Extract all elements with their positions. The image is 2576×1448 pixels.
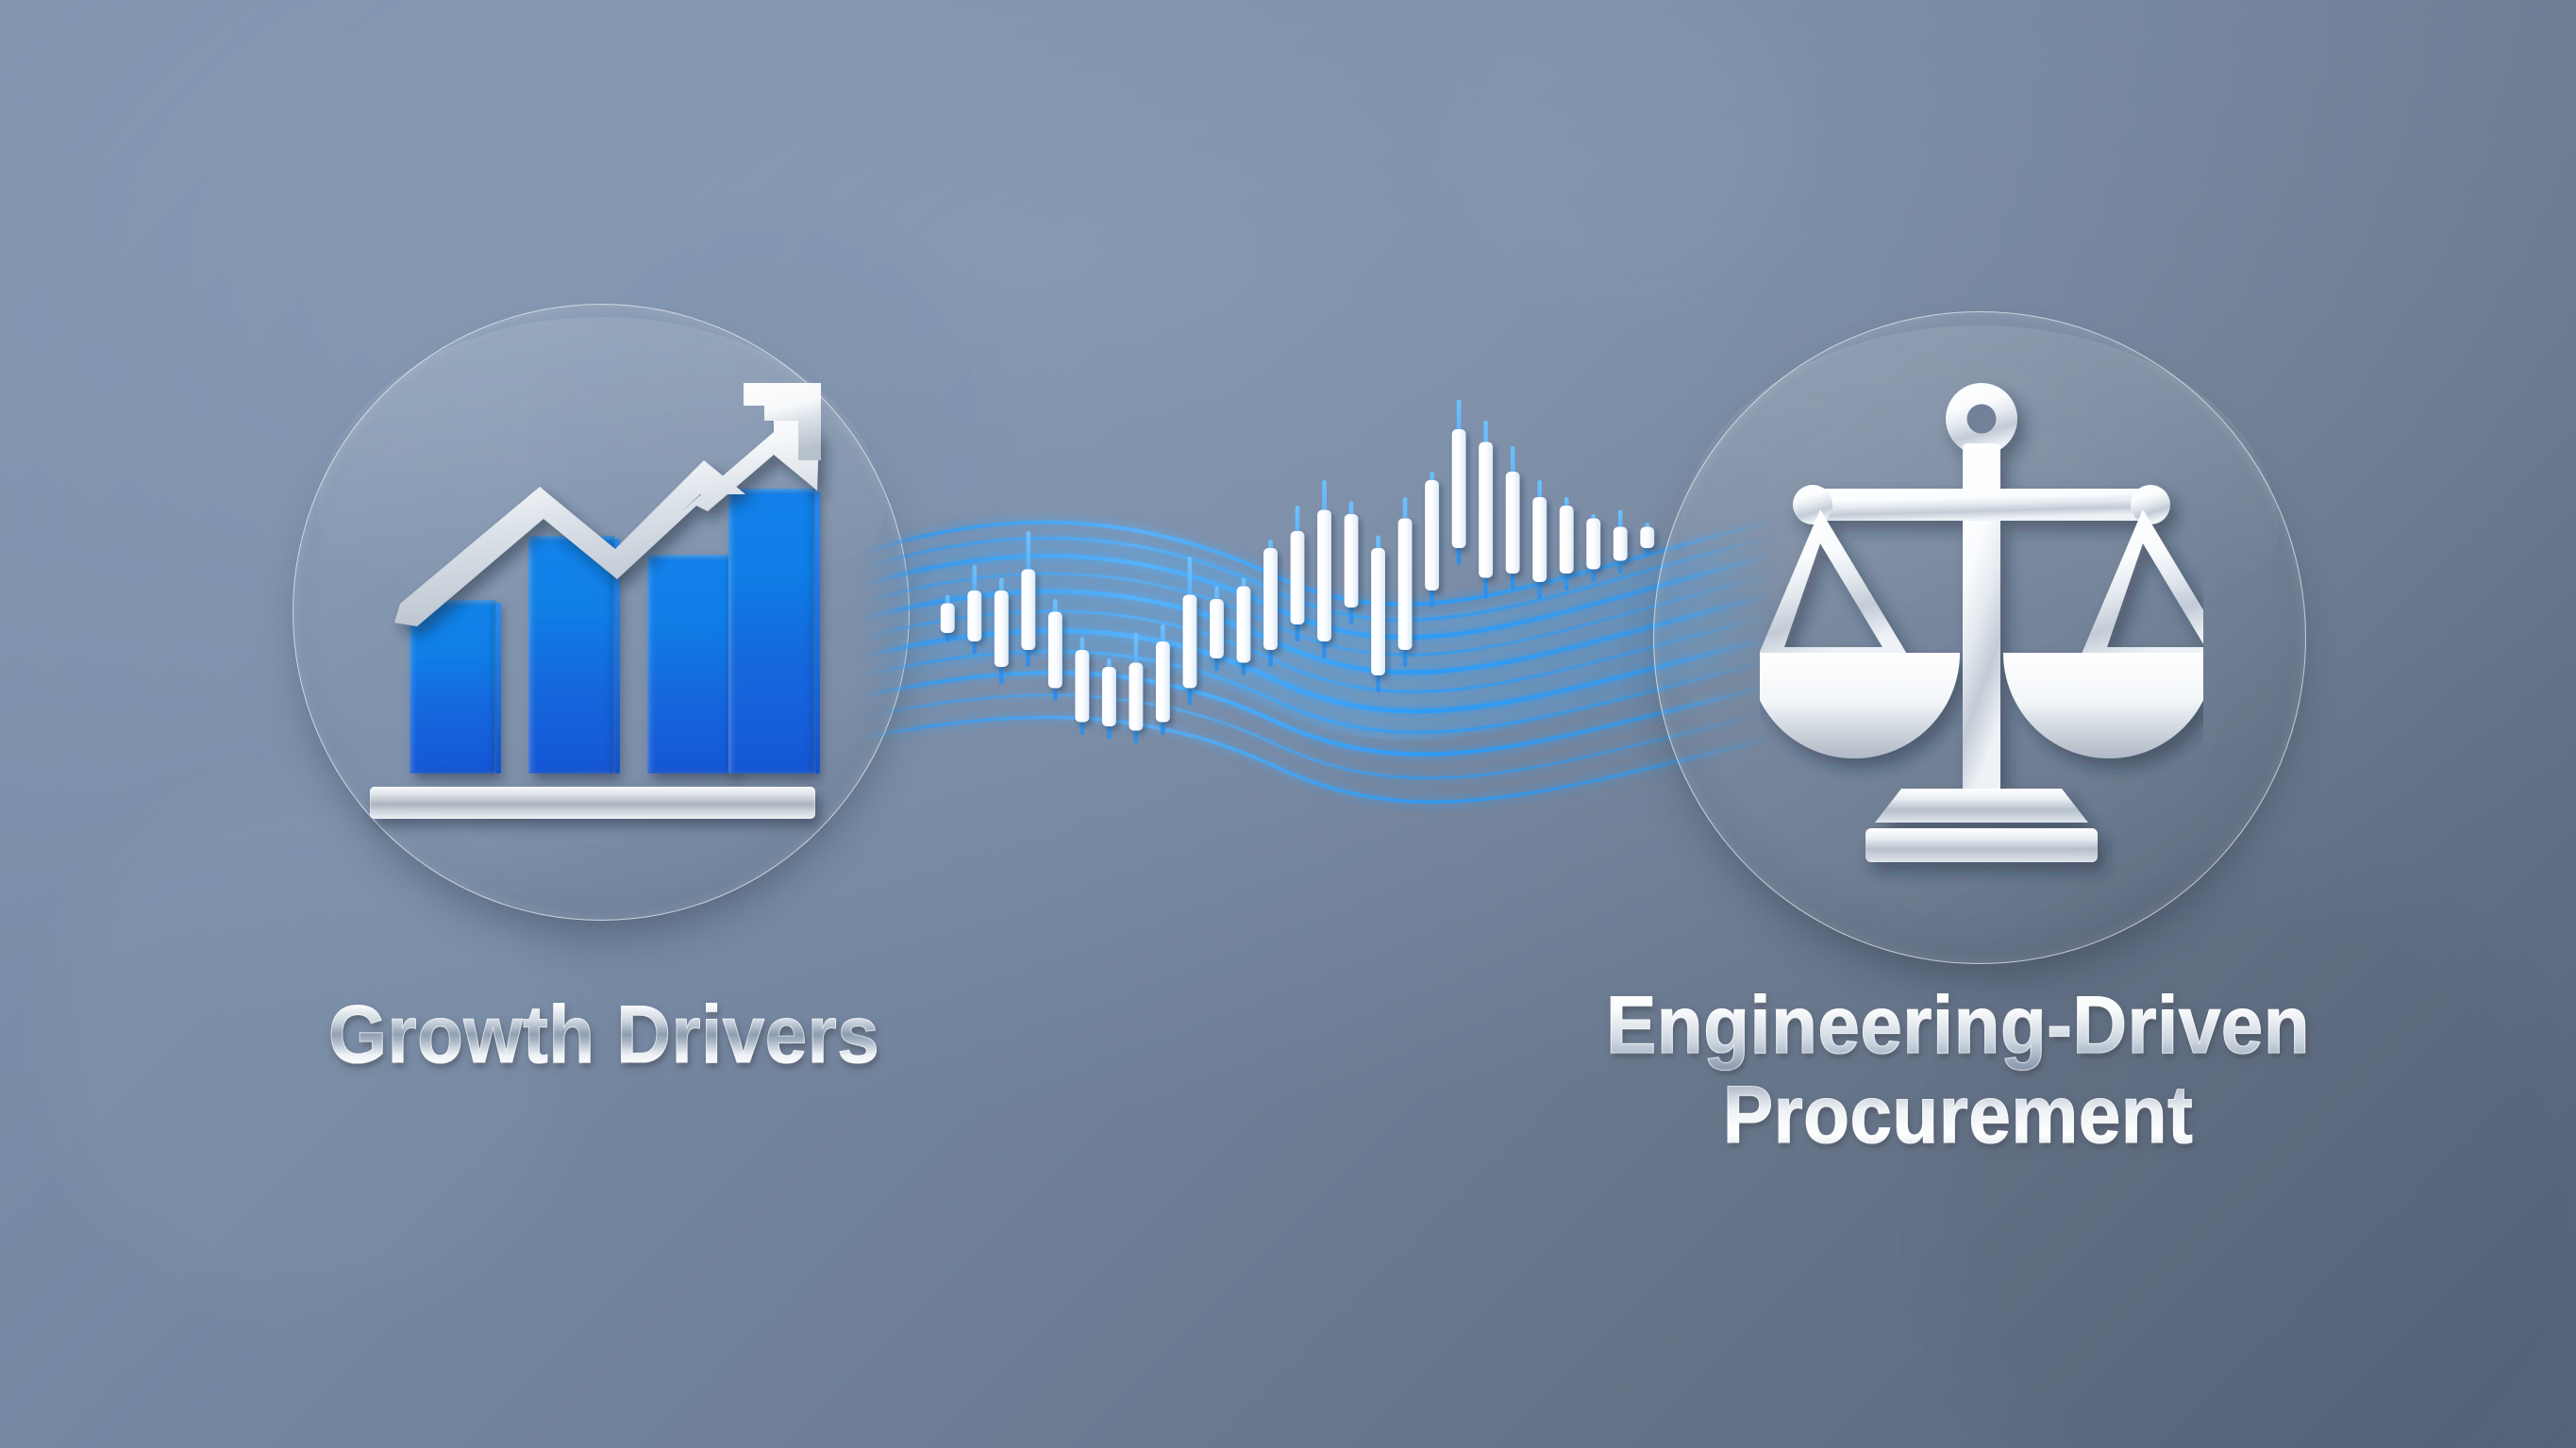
candle-body xyxy=(1614,527,1628,561)
candle-body xyxy=(995,591,1009,667)
trend-arrow-icon xyxy=(368,370,840,672)
candle-body xyxy=(1452,429,1466,548)
candle-body xyxy=(1479,442,1493,578)
candle-body xyxy=(1263,548,1278,650)
candle-body xyxy=(1129,663,1143,731)
candle-body xyxy=(1506,472,1520,574)
candle-body xyxy=(1075,650,1089,723)
candle-body xyxy=(1371,548,1385,675)
candle-body xyxy=(1317,510,1331,642)
candle-body xyxy=(1398,519,1413,651)
candle-body xyxy=(1183,595,1197,689)
candle-body xyxy=(1560,506,1574,574)
candle-body xyxy=(1048,612,1062,689)
candle-body xyxy=(1237,587,1251,663)
candle-body xyxy=(1291,531,1305,624)
balance-scales-icon xyxy=(1760,377,2203,887)
candle-body xyxy=(1425,480,1439,591)
candle-body xyxy=(1532,497,1547,582)
candle-body xyxy=(1156,641,1170,723)
candle-body xyxy=(967,591,981,641)
candle-body xyxy=(1210,599,1224,658)
bar-chart-growth-icon xyxy=(377,396,830,840)
chart-baseline xyxy=(370,787,815,819)
infographic-canvas: Growth Drivers Engineering-Driven Procur… xyxy=(0,0,2576,1448)
candle-body xyxy=(1640,527,1654,549)
data-flow-connector xyxy=(830,283,1774,943)
candle-body xyxy=(1586,519,1600,570)
candle-body xyxy=(1102,667,1116,726)
candle-body xyxy=(1021,570,1035,651)
candle-body xyxy=(941,604,955,634)
candle-body xyxy=(1345,514,1359,607)
node-label-engineering-driven-procurement: Engineering-Driven Procurement xyxy=(1528,981,2387,1159)
node-label-growth-drivers: Growth Drivers xyxy=(200,990,1008,1080)
